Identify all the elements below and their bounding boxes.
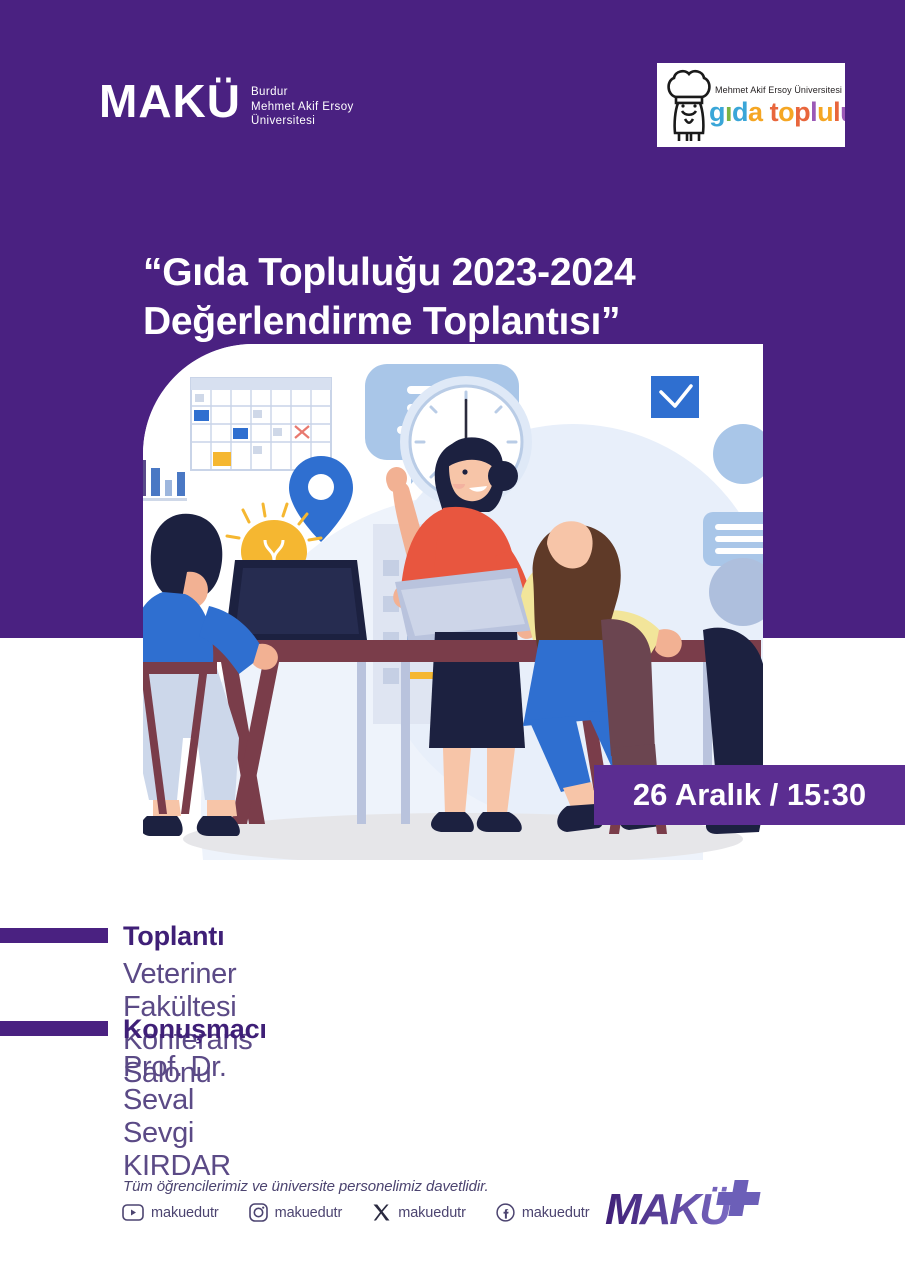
university-name: Mehmet Akif Ersoy — [251, 100, 354, 115]
accent-bar-speaker — [0, 1021, 108, 1036]
event-poster: MAKÜ Burdur Mehmet Akif Ersoy Üniversite… — [0, 0, 905, 1280]
date-time-banner: 26 Aralık / 15:30 — [594, 765, 905, 825]
university-logo: MAKÜ Burdur Mehmet Akif Ersoy Üniversite… — [99, 78, 354, 129]
community-university-line: Mehmet Akif Ersoy Üniversitesi — [715, 85, 842, 95]
poster-title-line1: “Gıda Topluluğu 2023-2024 — [143, 248, 783, 297]
poster-title: “Gıda Topluluğu 2023-2024 Değerlendirme … — [143, 248, 783, 346]
social-item-instagram[interactable]: makuedutr — [249, 1203, 343, 1222]
social-item-x[interactable]: makuedutr — [372, 1203, 466, 1222]
university-name-block: Burdur Mehmet Akif Ersoy Üniversitesi — [251, 78, 354, 129]
maku-plus-wordmark: MAKÜ — [605, 1185, 732, 1234]
youtube-icon[interactable] — [122, 1204, 144, 1221]
community-logo-box: Mehmet Akif Ersoy Üniversitesi gıda topl… — [657, 63, 845, 147]
social-handle-instagram: makuedutr — [275, 1205, 343, 1221]
checkbox-icon — [651, 376, 699, 418]
social-item-facebook[interactable]: makuedutr — [496, 1203, 590, 1222]
date-time-text: 26 Aralık / 15:30 — [633, 777, 866, 813]
maku-wordmark: MAKÜ — [99, 78, 241, 124]
social-links-row: makuedutr makuedutr makuedutr makuedutr — [122, 1203, 619, 1222]
social-handle-facebook: makuedutr — [522, 1205, 590, 1221]
maku-plus-svg: MAKÜ — [605, 1178, 795, 1238]
social-handle-x: makuedutr — [398, 1205, 466, 1221]
social-handle-youtube: makuedutr — [151, 1205, 219, 1221]
community-wordmark: gıda topluluğu — [709, 97, 845, 128]
chef-character-icon — [663, 67, 715, 143]
info-label-meeting: Toplantı — [123, 921, 224, 952]
calendar-icon — [191, 378, 331, 470]
social-item-youtube[interactable]: makuedutr — [122, 1204, 219, 1221]
facebook-icon[interactable] — [496, 1203, 515, 1222]
accent-bar-meeting — [0, 928, 108, 943]
poster-title-line2: Değerlendirme Toplantısı” — [143, 297, 783, 346]
x-twitter-icon[interactable] — [372, 1203, 391, 1222]
university-city: Burdur — [251, 85, 354, 100]
document-lines-icon — [703, 512, 763, 566]
invitation-note: Tüm öğrencilerimiz ve üniversite persone… — [123, 1178, 489, 1195]
university-suffix: Üniversitesi — [251, 114, 354, 129]
info-value-speaker: Prof. Dr. Seval Sevgi KIRDAR — [123, 1051, 231, 1183]
instagram-icon[interactable] — [249, 1203, 268, 1222]
maku-plus-logo: MAKÜ — [605, 1178, 795, 1238]
info-label-speaker: Konuşmacı — [123, 1014, 267, 1045]
